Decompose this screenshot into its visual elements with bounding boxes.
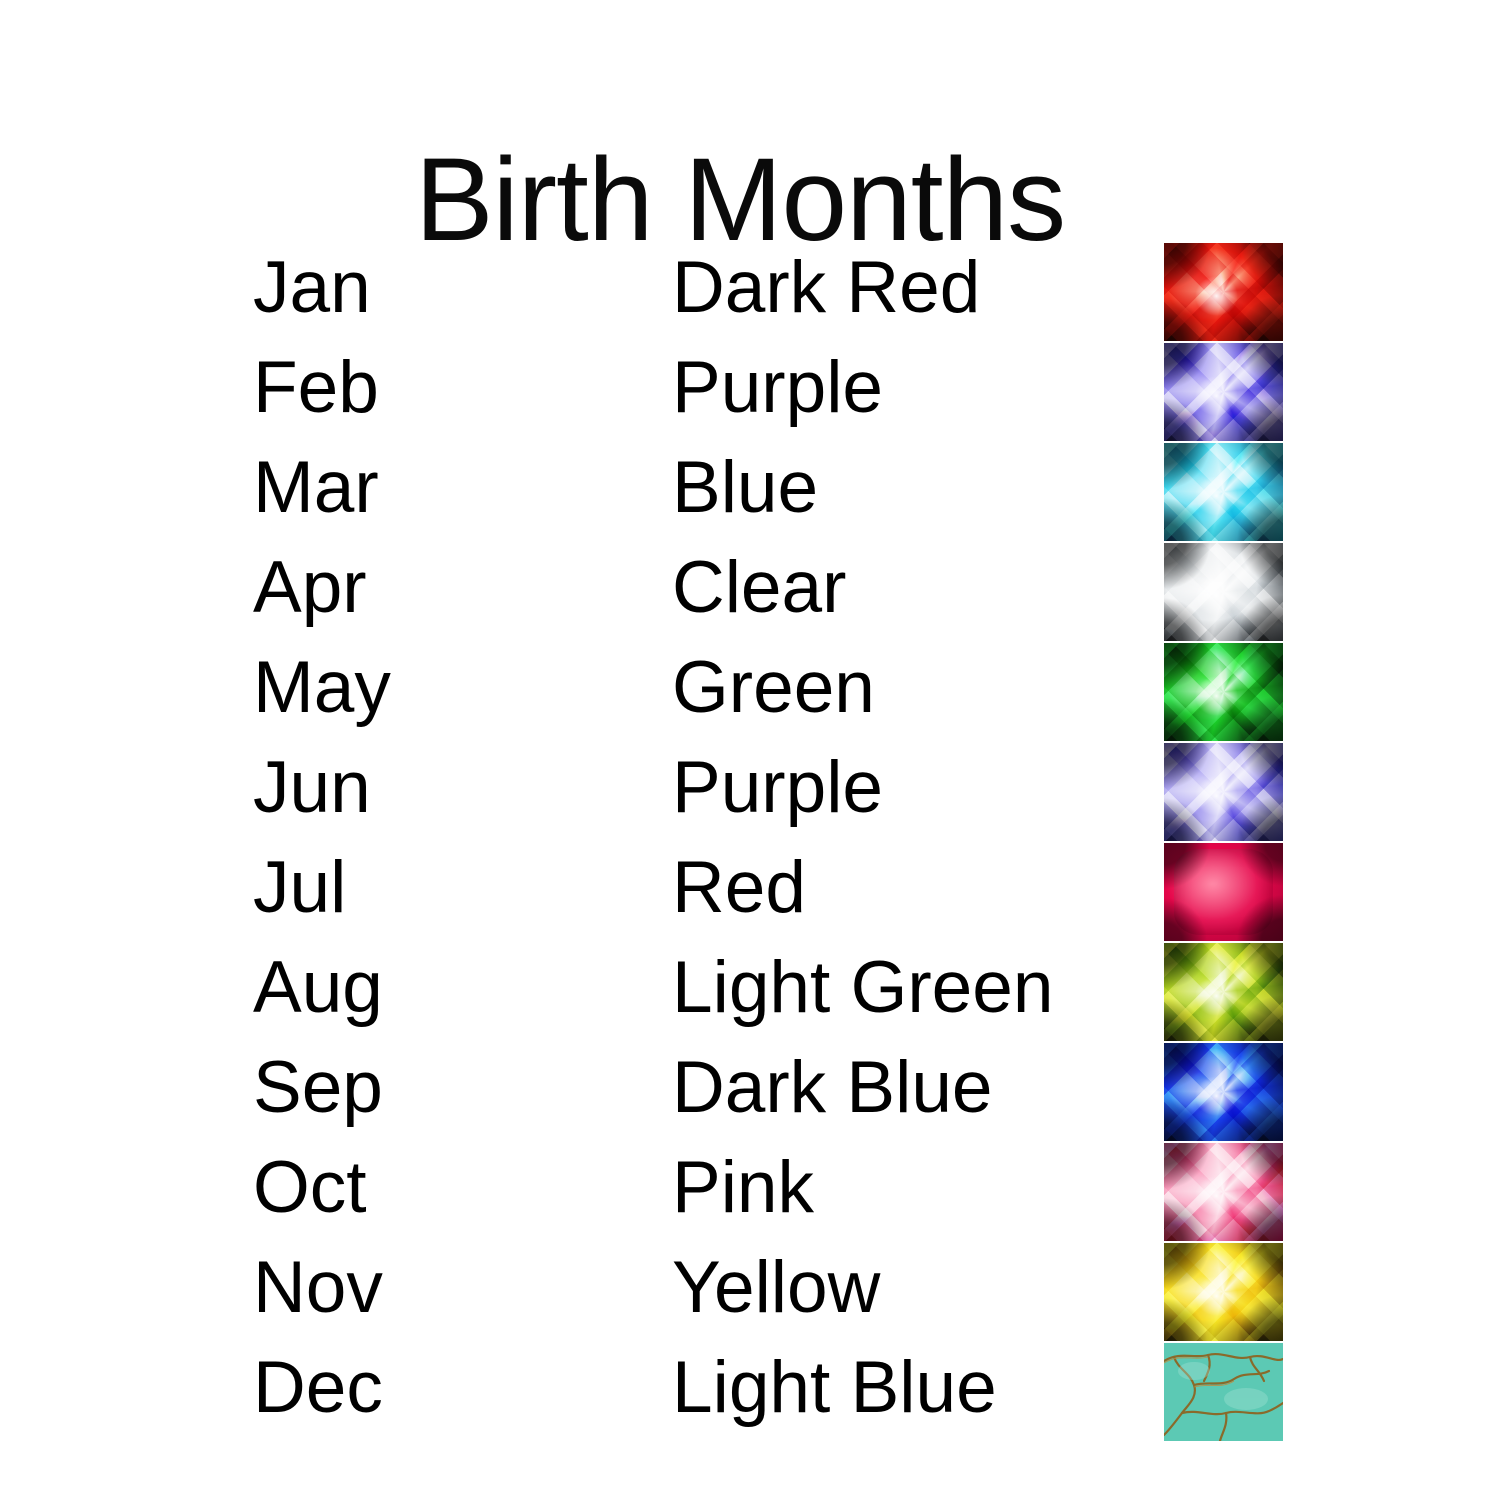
amethyst-gem — [1164, 343, 1283, 441]
month-label: Sep — [253, 1046, 383, 1130]
color-label: Dark Red — [672, 246, 980, 330]
gem-corner-shading — [1164, 943, 1283, 1041]
sapphire-gem — [1164, 1043, 1283, 1141]
month-label: Jun — [253, 746, 371, 830]
birthstone-table: JanDark RedFebPurpleMarBlueAprClearMayGr… — [0, 246, 1500, 1446]
color-label: Green — [672, 646, 875, 730]
gem-cell — [1164, 1243, 1283, 1341]
table-row: MayGreen — [0, 646, 1500, 746]
gem-corner-shading — [1164, 443, 1283, 541]
color-label: Purple — [672, 346, 883, 430]
page-title: Birth Months — [0, 141, 1480, 259]
emerald-gem — [1164, 643, 1283, 741]
color-label: Red — [672, 846, 806, 930]
diamond-gem — [1164, 543, 1283, 641]
month-label: May — [253, 646, 391, 730]
color-label: Light Green — [672, 946, 1053, 1030]
gem-cell — [1164, 943, 1283, 1041]
gem-cell — [1164, 543, 1283, 641]
gem-corner-shading — [1164, 343, 1283, 441]
gem-corner-shading — [1164, 543, 1283, 641]
month-label: Oct — [253, 1146, 367, 1230]
color-label: Dark Blue — [672, 1046, 993, 1130]
color-label: Purple — [672, 746, 883, 830]
month-label: Apr — [253, 546, 367, 630]
color-label: Blue — [672, 446, 818, 530]
gem-corner-shading — [1164, 1243, 1283, 1341]
table-row: OctPink — [0, 1146, 1500, 1246]
color-label: Pink — [672, 1146, 814, 1230]
citrine-gem — [1164, 1243, 1283, 1341]
ruby-gem — [1164, 843, 1283, 941]
turquoise-gem — [1164, 1343, 1283, 1441]
garnet-gem — [1164, 243, 1283, 341]
month-label: Feb — [253, 346, 379, 430]
table-row: JanDark Red — [0, 246, 1500, 346]
table-row: AugLight Green — [0, 946, 1500, 1046]
gem-corner-shading — [1164, 643, 1283, 741]
month-label: Nov — [253, 1246, 383, 1330]
gem-cell — [1164, 843, 1283, 941]
gem-cell — [1164, 1043, 1283, 1141]
table-row: JunPurple — [0, 746, 1500, 846]
gem-corner-shading — [1164, 243, 1283, 341]
gem-corner-shading — [1164, 743, 1283, 841]
gem-corner-shading — [1164, 843, 1283, 941]
gem-corner-shading — [1164, 1143, 1283, 1241]
gem-cell — [1164, 243, 1283, 341]
tourmaline-gem — [1164, 1143, 1283, 1241]
alexandrite-gem — [1164, 743, 1283, 841]
table-row: MarBlue — [0, 446, 1500, 546]
table-row: AprClear — [0, 546, 1500, 646]
table-row: JulRed — [0, 846, 1500, 946]
color-label: Clear — [672, 546, 846, 630]
gem-cell — [1164, 343, 1283, 441]
month-label: Mar — [253, 446, 379, 530]
table-row: SepDark Blue — [0, 1046, 1500, 1146]
month-label: Jan — [253, 246, 371, 330]
table-row: FebPurple — [0, 346, 1500, 446]
gem-cell — [1164, 1343, 1283, 1441]
gem-veins — [1164, 1343, 1283, 1441]
table-row: DecLight Blue — [0, 1346, 1500, 1446]
gem-cell — [1164, 743, 1283, 841]
month-label: Dec — [253, 1346, 383, 1430]
gem-cell — [1164, 643, 1283, 741]
color-label: Yellow — [672, 1246, 880, 1330]
peridot-gem — [1164, 943, 1283, 1041]
table-row: NovYellow — [0, 1246, 1500, 1346]
aquamarine-gem — [1164, 443, 1283, 541]
month-label: Jul — [253, 846, 346, 930]
color-label: Light Blue — [672, 1346, 997, 1430]
gem-corner-shading — [1164, 1043, 1283, 1141]
gem-cell — [1164, 443, 1283, 541]
month-label: Aug — [253, 946, 383, 1030]
gem-cell — [1164, 1143, 1283, 1241]
